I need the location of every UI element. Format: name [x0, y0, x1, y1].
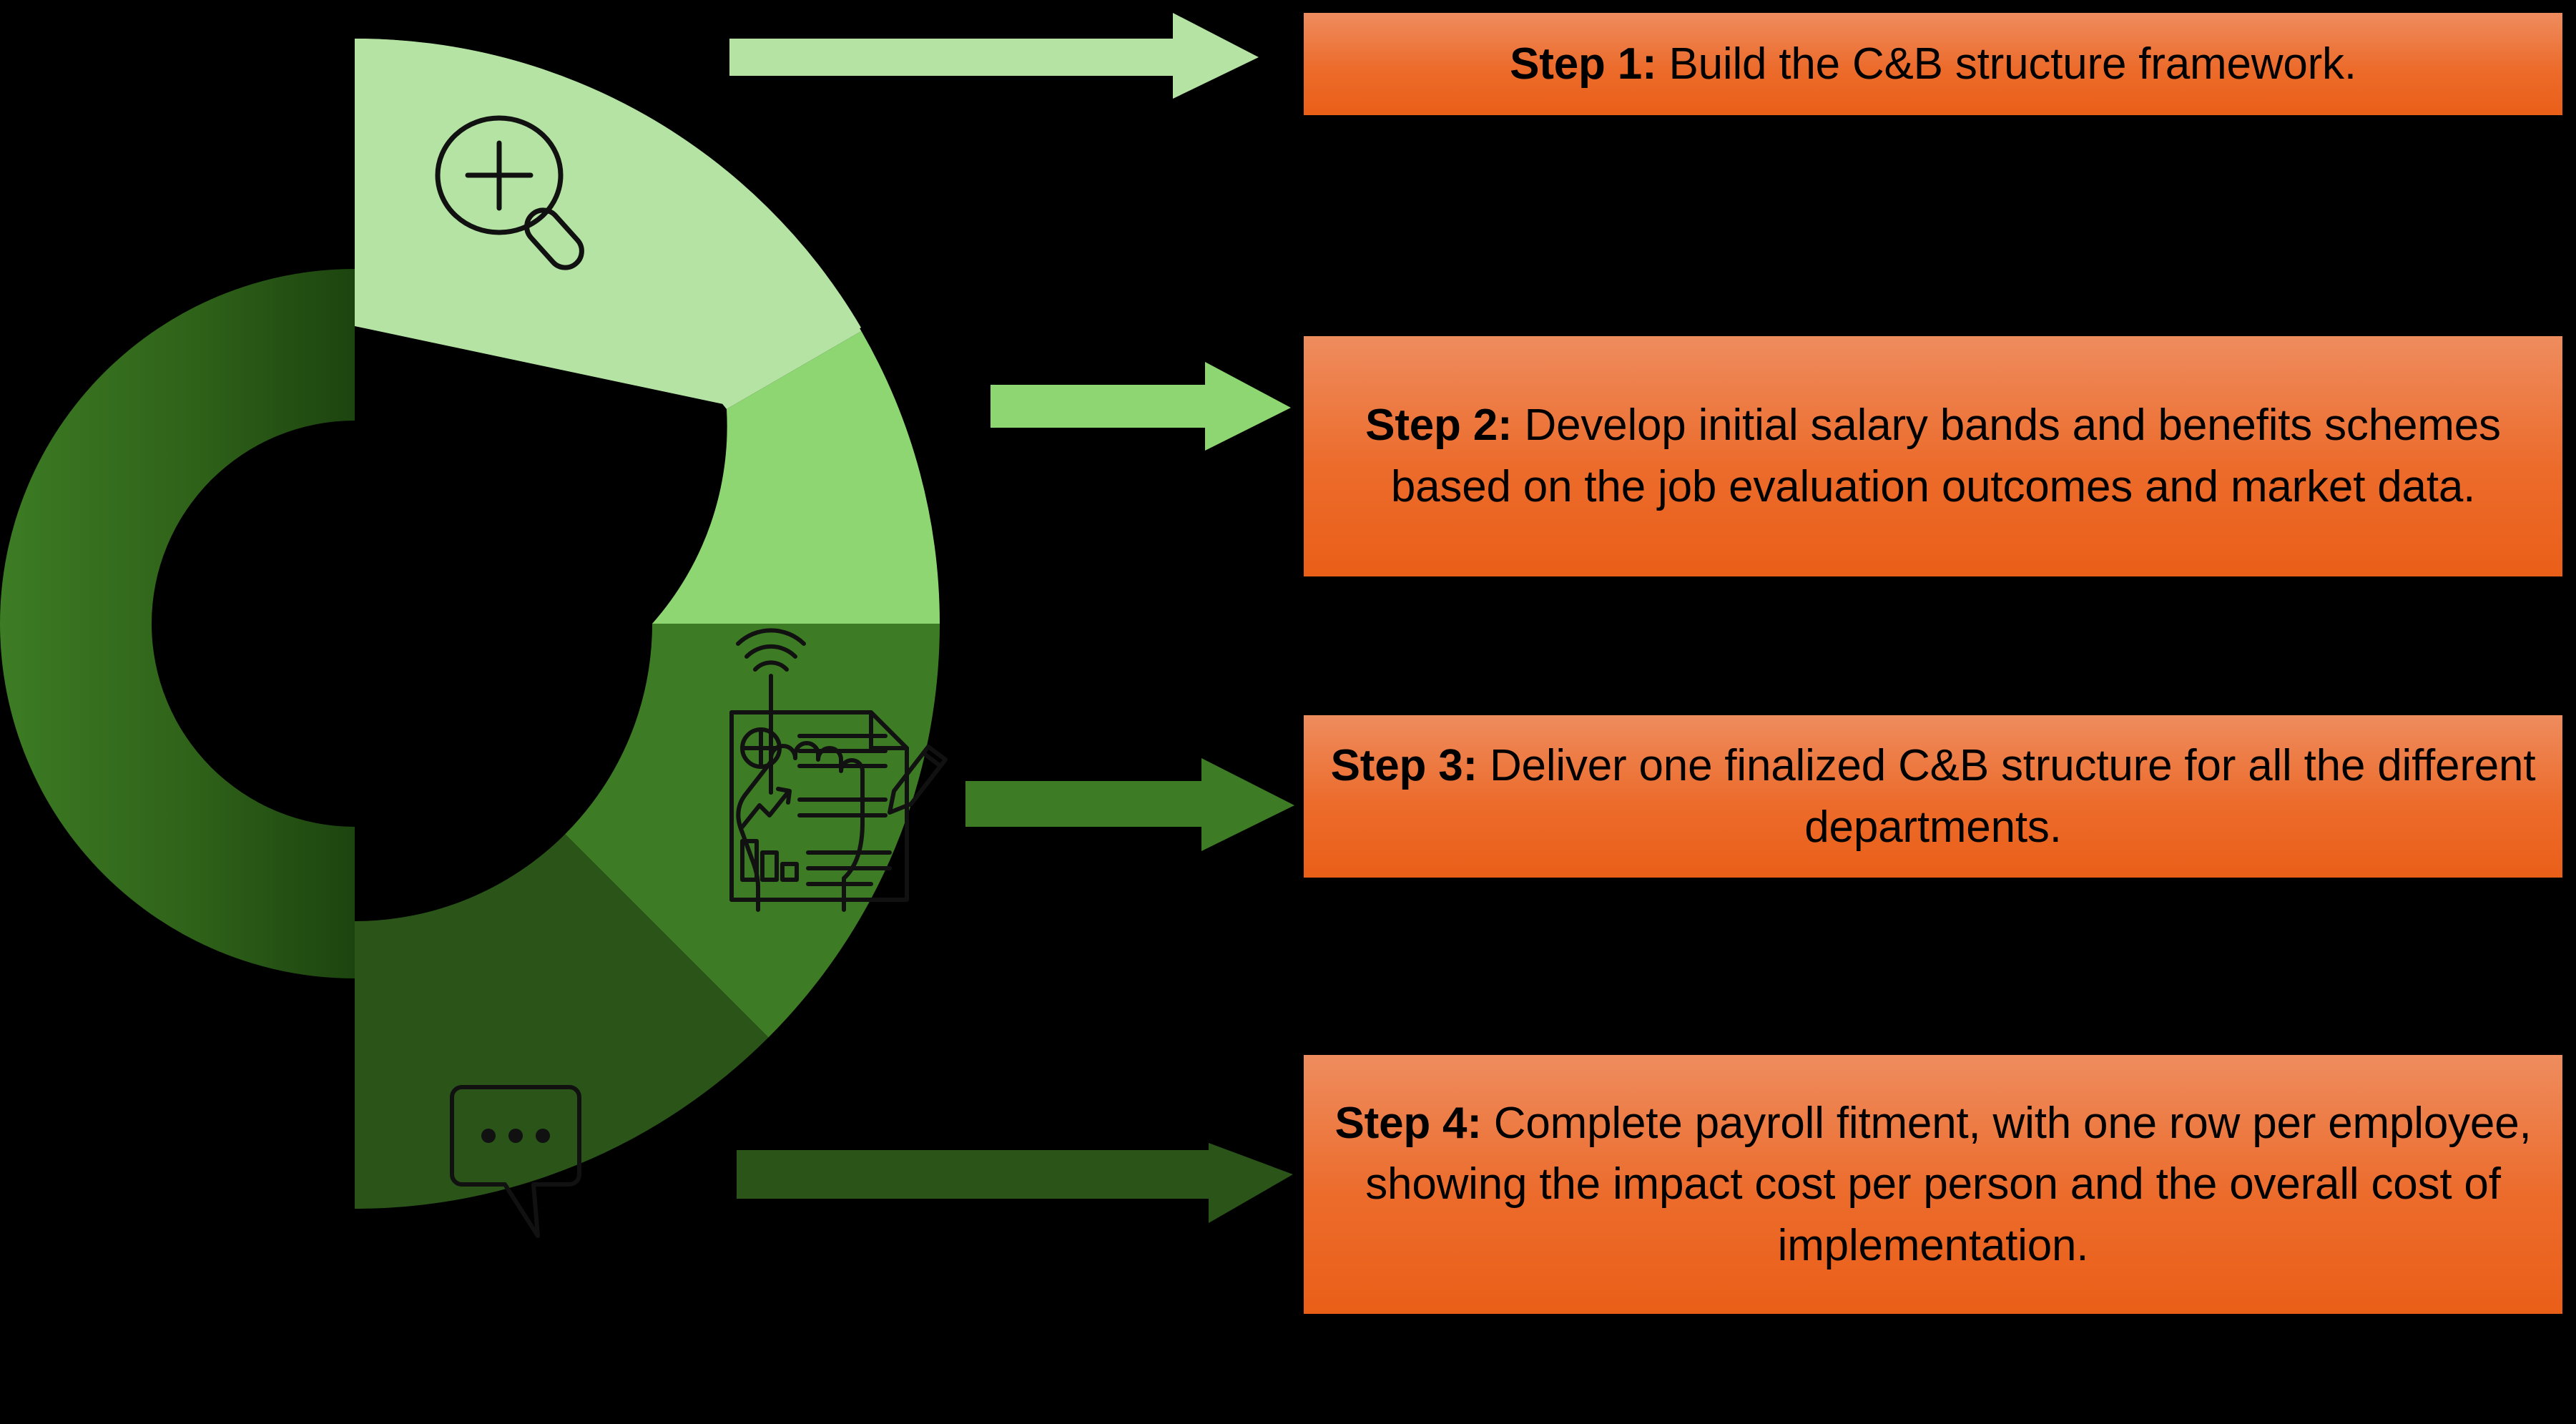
process-donut — [0, 0, 1001, 1259]
arrow-2 — [990, 358, 1291, 451]
step-1-text: Step 1: Build the C&B structure framewor… — [1510, 34, 2356, 95]
step-4-lead: Step 4: — [1334, 1099, 1481, 1148]
arrow-3 — [965, 758, 1294, 851]
arrow-4 — [737, 1143, 1293, 1232]
step-box-1[interactable]: Step 1: Build the C&B structure framewor… — [1304, 13, 2562, 115]
step-2-body: Develop initial salary bands and benefit… — [1391, 401, 2501, 511]
step-3-lead: Step 3: — [1331, 741, 1478, 790]
step-3-text: Step 3: Deliver one finalized C&B struct… — [1322, 735, 2544, 858]
step-3-body: Deliver one finalized C&B structure for … — [1478, 741, 2535, 852]
step-1-body: Build the C&B structure framework. — [1656, 39, 2356, 89]
step-2-lead: Step 2: — [1365, 401, 1512, 450]
diagram-canvas: Step 1: Build the C&B structure framewor… — [0, 0, 2576, 1424]
step-1-lead: Step 1: — [1510, 39, 1656, 89]
step-box-2[interactable]: Step 2: Develop initial salary bands and… — [1304, 336, 2562, 576]
arrow-1 — [729, 13, 1259, 99]
step-4-text: Step 4: Complete payroll fitment, with o… — [1322, 1093, 2544, 1277]
left-dark-arc — [0, 269, 355, 978]
step-2-text: Step 2: Develop initial salary bands and… — [1322, 395, 2544, 517]
step-box-4[interactable]: Step 4: Complete payroll fitment, with o… — [1304, 1055, 2562, 1314]
step-box-3[interactable]: Step 3: Deliver one finalized C&B struct… — [1304, 715, 2562, 878]
step-4-body: Complete payroll fitment, with one row p… — [1365, 1099, 2531, 1270]
